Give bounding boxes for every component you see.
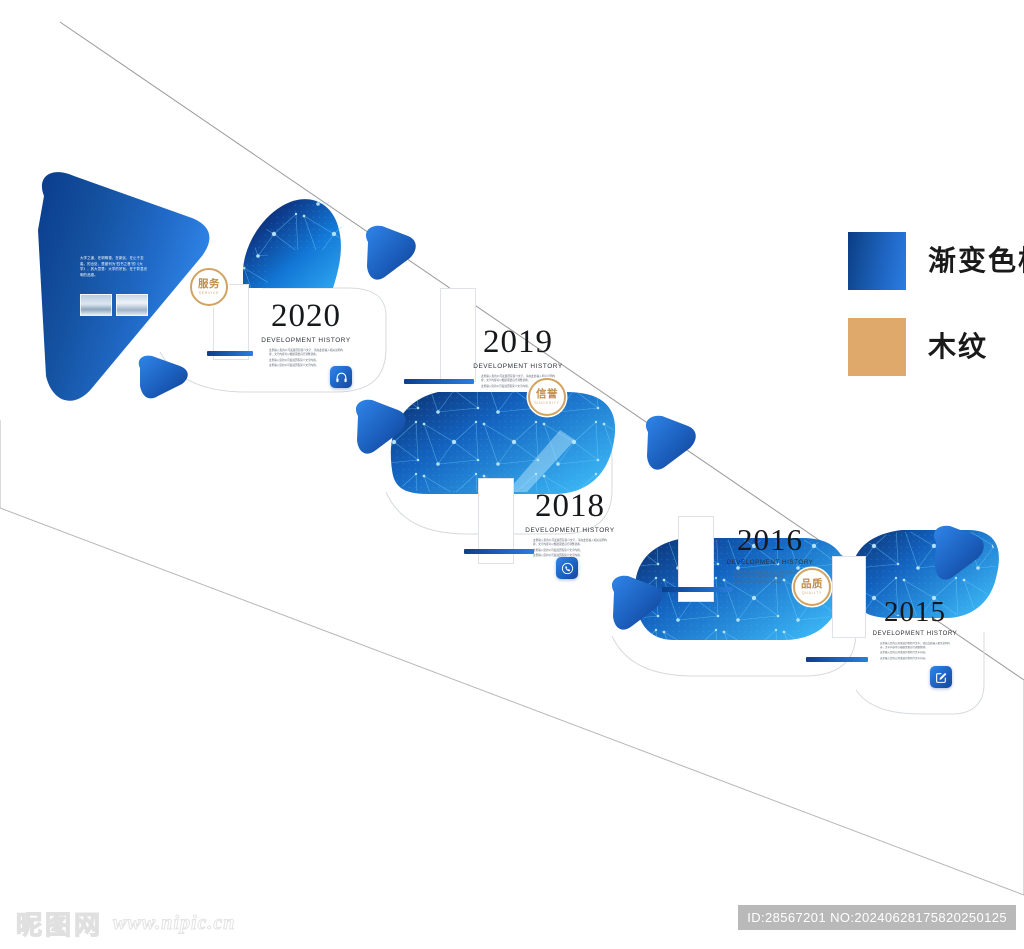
subtitle-2020: DEVELOPMENT HISTORY: [258, 337, 354, 344]
body-line: 这里输入您的公司发展历程简介文字，请在此处输入相关说明内容，文字内容可以根据需要…: [880, 642, 950, 649]
artboard: 大学之道，在明明德，在新民，在止于至善。的出处，是被列为“四书之首”的《大学》，…: [0, 0, 1024, 949]
year-label-2016: 2016: [722, 524, 818, 555]
watermark-site-url: www.nipic.cn: [113, 912, 235, 935]
badge-label-cn: 信誉: [536, 389, 558, 400]
body-2020: 这里输入您的公司发展历程简介文字，请在此处输入相关说明内容，文字内容可以根据需要…: [269, 349, 343, 368]
badge-label-cn: 服务: [198, 279, 220, 290]
subtitle-2019: DEVELOPMENT HISTORY: [470, 363, 566, 370]
legend-label-wood: 木纹: [928, 333, 988, 361]
accent-bar-2015: [806, 657, 868, 662]
legend-label-gradient: 渐变色板: [928, 247, 1024, 275]
panel-2018[interactable]: 2018 DEVELOPMENT HISTORY 这里输入您的公司发展历程简介文…: [522, 490, 618, 560]
badge-label-en: SERVICE: [199, 291, 219, 295]
panel-intro-shape: [38, 172, 209, 401]
year-label-2018: 2018: [522, 490, 618, 523]
sky-photo-1: [80, 294, 112, 316]
watermark-id: ID:28567201 NO:20240628175820250125: [738, 905, 1016, 930]
body-2015: 这里输入您的公司发展历程简介文字，请在此处输入相关说明内容，文字内容可以根据需要…: [880, 642, 950, 661]
panel-2020-shape: [240, 190, 350, 300]
legend-swatch-gradient: [848, 232, 906, 290]
watermark-logo: 昵图网 www.nipic.cn: [16, 905, 235, 942]
badge-label-cn: 品质: [801, 579, 823, 590]
watermark-site-cn: 昵图网: [16, 905, 103, 942]
body-line: 这里输入您的公司发展历程简介文字内容。: [880, 651, 950, 655]
intro-body-text: 大学之道，在明明德，在新民，在止于至善。的出处，是被列为“四书之首”的《大学》，…: [80, 256, 148, 278]
legend-item-wood-grain[interactable]: 木纹: [848, 318, 1024, 376]
wall-graphic: [0, 0, 1024, 949]
body-line: 这里输入您的公司发展历程简介文字内容。: [533, 549, 607, 553]
panel-2015[interactable]: 2015 DEVELOPMENT HISTORY 这里输入您的公司发展历程简介文…: [868, 598, 962, 663]
panel-2020[interactable]: 2020 DEVELOPMENT HISTORY 这里输入您的公司发展历程简介文…: [258, 300, 354, 370]
legend-swatch-wood: [848, 318, 906, 376]
year-label-2015: 2015: [868, 598, 962, 627]
subtitle-2015: DEVELOPMENT HISTORY: [868, 631, 962, 637]
phone-24h-icon[interactable]: [556, 557, 578, 579]
badge-label-en: QUALITY: [802, 591, 822, 595]
intro-photo-group: [80, 294, 148, 316]
badge-label-en: SINCERITY: [534, 401, 559, 405]
body-line: 这里输入您的公司发展历程简介文字内容。: [269, 359, 343, 363]
badge-service[interactable]: 服务 SERVICE: [190, 268, 228, 306]
body-line: 这里输入您的公司发展历程简介文字内容。: [880, 657, 950, 661]
badge-sincerity[interactable]: 信誉 SINCERITY: [528, 378, 566, 416]
body-line: 这里输入您的公司发展历程简介文字，请在此处输入相关说明内容，文字内容可以根据需要…: [269, 349, 343, 357]
headphone-icon[interactable]: [330, 366, 352, 388]
subtitle-2018: DEVELOPMENT HISTORY: [522, 527, 618, 534]
accent-bar-2016: [662, 587, 732, 592]
year-label-2020: 2020: [258, 300, 354, 333]
edit-pen-icon[interactable]: [930, 666, 952, 688]
subtitle-2016: DEVELOPMENT HISTORY: [722, 559, 818, 566]
year-label-2019: 2019: [470, 326, 566, 359]
badge-quality[interactable]: 品质 QUALITY: [793, 568, 831, 606]
body-2018: 这里输入您的公司发展历程简介文字，请在此处输入相关说明内容，文字内容可以根据需要…: [533, 539, 607, 558]
accent-bar-2020: [207, 351, 253, 356]
legend-item-gradient-board[interactable]: 渐变色板: [848, 232, 1024, 290]
paper-card-2015: [832, 556, 866, 638]
accent-bar-2019: [404, 379, 474, 384]
sky-photo-2: [116, 294, 148, 316]
legend: 渐变色板 木纹: [848, 232, 1024, 404]
body-line: 这里输入您的公司发展历程简介文字，请在此处输入相关说明内容，文字内容可以根据需要…: [533, 539, 607, 547]
